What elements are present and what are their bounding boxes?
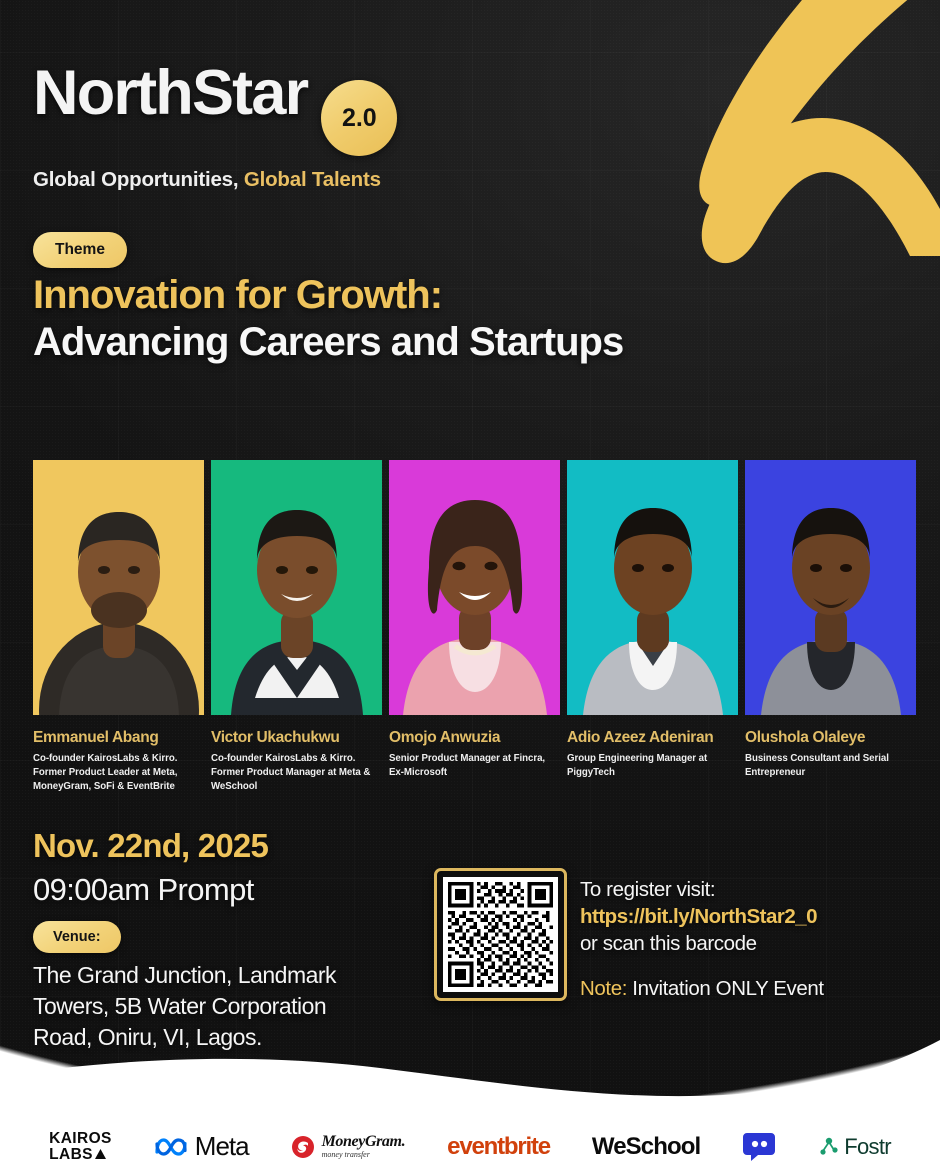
registration-block: To register visit: https://bit.ly/NorthS… bbox=[580, 876, 930, 1001]
register-note-text: Invitation ONLY Event bbox=[632, 977, 823, 1000]
sponsor-logo-fostr: Fostr bbox=[818, 1127, 891, 1167]
speaker-card: Emmanuel Abang Co-founder KairosLabs & K… bbox=[33, 460, 204, 794]
theme-line-2: Advancing Careers and bbox=[33, 320, 459, 364]
speaker-name: Adio Azeez Adeniran bbox=[567, 729, 738, 746]
chat-bubble-icon bbox=[742, 1132, 776, 1162]
theme-pill: Theme bbox=[33, 232, 127, 268]
speaker-name: Emmanuel Abang bbox=[33, 729, 204, 746]
speaker-photo bbox=[211, 460, 382, 715]
sponsor-logo-weschool: WeSchool bbox=[592, 1127, 700, 1167]
kairos-labs-logo: KAIROS LABS bbox=[49, 1131, 112, 1162]
kairos-line-2: LABS bbox=[49, 1147, 93, 1163]
triangle-icon bbox=[95, 1149, 106, 1159]
speaker-role: Senior Product Manager at Fincra, Ex-Mic… bbox=[389, 752, 560, 780]
event-flyer: NorthStar 2.0 Global Opportunities, Glob… bbox=[0, 0, 940, 1175]
fostr-label: Fostr bbox=[844, 1134, 891, 1160]
sponsor-logos: KAIROS LABS Meta MoneyGram. money trans bbox=[0, 1118, 940, 1175]
speakers-row: Emmanuel Abang Co-founder KairosLabs & K… bbox=[33, 460, 908, 794]
tagline-gold: Global Talents bbox=[244, 168, 381, 191]
moneygram-icon bbox=[291, 1135, 315, 1159]
fostr-node-icon bbox=[818, 1136, 840, 1158]
qr-code[interactable] bbox=[434, 868, 567, 1001]
weschool-label: WeSchool bbox=[592, 1133, 700, 1161]
sponsor-logo-moneygram: MoneyGram. money transfer bbox=[291, 1127, 406, 1167]
moneygram-text: MoneyGram. money transfer bbox=[322, 1134, 406, 1159]
speaker-photo bbox=[745, 460, 916, 715]
speaker-role: Co-founder KairosLabs & Kirro. Former Pr… bbox=[33, 752, 204, 794]
meta-infinity-icon bbox=[154, 1136, 188, 1158]
speaker-card: Adio Azeez Adeniran Group Engineering Ma… bbox=[567, 460, 738, 794]
register-scan-label: or scan this barcode bbox=[580, 930, 930, 957]
speaker-card: Omojo Anwuzia Senior Product Manager at … bbox=[389, 460, 560, 794]
speaker-photo bbox=[567, 460, 738, 715]
moneygram-sublabel: money transfer bbox=[322, 1151, 406, 1159]
sponsor-logo-chat-bubble bbox=[742, 1127, 776, 1167]
sponsor-logo-kairoslabs: KAIROS LABS bbox=[49, 1127, 112, 1167]
theme-line-3: Startups bbox=[469, 320, 623, 364]
version-badge: 2.0 bbox=[321, 80, 397, 156]
speaker-card: Olushola Olaleye Business Consultant and… bbox=[745, 460, 916, 794]
speaker-photo bbox=[33, 460, 204, 715]
speaker-role: Business Consultant and Serial Entrepren… bbox=[745, 752, 916, 780]
speaker-role: Group Engineering Manager at PiggyTech bbox=[567, 752, 738, 780]
register-note: Note: Invitation ONLY Event bbox=[580, 977, 930, 1001]
brand-tagline: Global Opportunities, Global Talents bbox=[33, 168, 397, 192]
register-visit-label: To register visit: bbox=[580, 876, 930, 903]
eventbrite-label: eventbrite bbox=[447, 1133, 550, 1161]
tagline-white: Global Opportunities, bbox=[33, 168, 238, 191]
register-note-prefix: Note: bbox=[580, 977, 627, 1000]
theme-line-1: Innovation for Growth: bbox=[33, 272, 673, 319]
register-url[interactable]: https://bit.ly/NorthStar2_0 bbox=[580, 903, 930, 930]
venue-address: The Grand Junction, Landmark Towers, 5B … bbox=[33, 960, 383, 1052]
theme-title: Innovation for Growth: Advancing Careers… bbox=[33, 272, 673, 366]
speaker-name: Victor Ukachukwu bbox=[211, 729, 382, 746]
meta-label: Meta bbox=[195, 1131, 249, 1162]
speaker-role: Co-founder KairosLabs & Kirro. Former Pr… bbox=[211, 752, 382, 794]
event-time: 09:00am Prompt bbox=[33, 872, 254, 908]
kairos-line-1: KAIROS bbox=[49, 1131, 112, 1147]
moneygram-label: MoneyGram. bbox=[322, 1134, 406, 1151]
event-date: Nov. 22nd, 2025 bbox=[33, 827, 268, 865]
speaker-card: Victor Ukachukwu Co-founder KairosLabs &… bbox=[211, 460, 382, 794]
venue-pill: Venue: bbox=[33, 921, 121, 953]
qr-code-image bbox=[443, 877, 558, 992]
speaker-photo bbox=[389, 460, 560, 715]
brand-header: NorthStar 2.0 Global Opportunities, Glob… bbox=[33, 62, 397, 192]
sponsor-logo-meta: Meta bbox=[154, 1127, 249, 1167]
brand-row: NorthStar 2.0 bbox=[33, 62, 397, 156]
sponsor-logo-eventbrite: eventbrite bbox=[447, 1127, 550, 1167]
brand-name: NorthStar bbox=[33, 62, 307, 125]
speaker-name: Omojo Anwuzia bbox=[389, 729, 560, 746]
speaker-name: Olushola Olaleye bbox=[745, 729, 916, 746]
